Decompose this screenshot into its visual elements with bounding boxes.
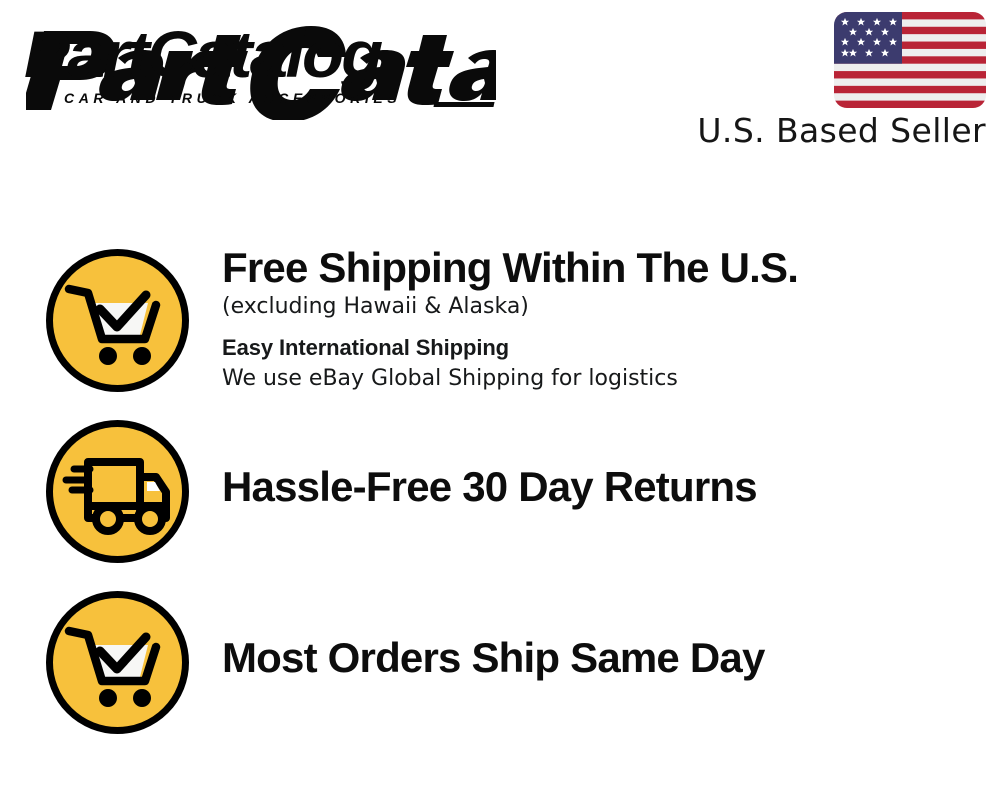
benefit-title: Hassle-Free 30 Day Returns bbox=[222, 466, 982, 509]
shopping-cart-check-icon bbox=[44, 247, 191, 394]
benefit-text-block: Free Shipping Within The U.S. (excluding… bbox=[222, 247, 982, 393]
benefit-subnote: We use eBay Global Shipping for logistic… bbox=[222, 364, 982, 393]
us-based-seller-label: U.S. Based Seller bbox=[486, 113, 986, 149]
brand-underline bbox=[433, 102, 494, 107]
benefit-subtitle: Easy International Shipping bbox=[222, 333, 982, 362]
brand-tagline: CAR AND TRUCK ACCESSORIES bbox=[64, 90, 401, 106]
benefit-text-block: Most Orders Ship Same Day bbox=[222, 637, 982, 680]
benefit-title: Most Orders Ship Same Day bbox=[222, 637, 982, 680]
benefit-text-block: Hassle-Free 30 Day Returns bbox=[222, 466, 982, 509]
brand-logo: PartCatalog CAR AND TRUCK ACCESSORIES bbox=[26, 22, 496, 120]
brand-name-text: PartCatalog bbox=[24, 17, 381, 91]
brand-name: PartCatalog bbox=[24, 16, 381, 92]
us-flag-icon bbox=[834, 12, 986, 108]
benefit-title: Free Shipping Within The U.S. bbox=[222, 247, 982, 290]
benefit-row: Free Shipping Within The U.S. (excluding… bbox=[0, 247, 1000, 399]
benefit-row: Most Orders Ship Same Day bbox=[0, 589, 1000, 741]
delivery-truck-icon bbox=[44, 418, 191, 565]
benefit-note: (excluding Hawaii & Alaska) bbox=[222, 292, 982, 321]
shopping-cart-check-icon bbox=[44, 589, 191, 736]
benefit-row: Hassle-Free 30 Day Returns bbox=[0, 418, 1000, 570]
